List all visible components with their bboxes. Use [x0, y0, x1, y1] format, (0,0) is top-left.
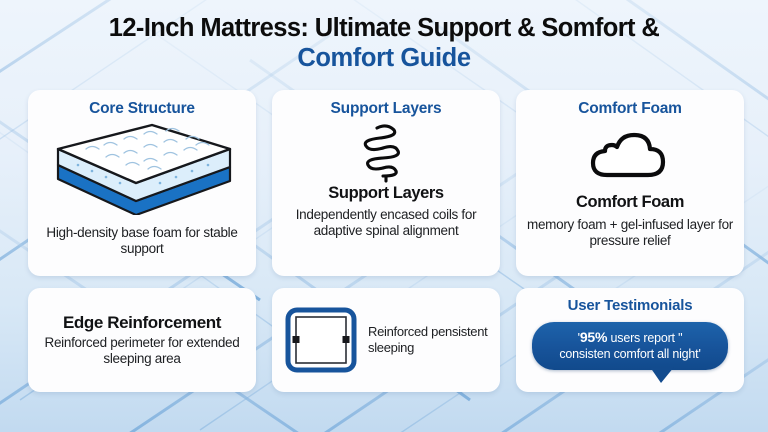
mattress-icon	[44, 123, 240, 215]
card-comfort-foam[interactable]: Comfort Foam Comfort Foam memory foam + …	[516, 90, 744, 276]
card-support-layers-body: Independently encased coils for adaptive…	[282, 207, 490, 239]
card-edge-reinforcement-body: Reinforced perimeter for extended sleepi…	[38, 335, 246, 367]
card-comfort-foam-title: Comfort Foam	[578, 100, 682, 119]
quote-line-1-text: users report "	[607, 331, 682, 345]
card-user-testimonials-title: User Testimonials	[568, 297, 693, 315]
testimonial-quote-line-2: consisten comfort all night'	[542, 347, 718, 363]
speech-bubble-tail	[650, 367, 674, 383]
testimonial-quote-line-1: '95% users report "	[542, 329, 718, 347]
card-reinforced-perimeter[interactable]: Reinforced pensistent sleeping	[272, 288, 500, 392]
testimonial-speech-bubble: '95% users report " consisten comfort al…	[532, 322, 728, 370]
title-line-secondary: Comfort Guide	[0, 43, 768, 73]
card-comfort-foam-subtitle: Comfort Foam	[576, 193, 684, 212]
infographic-canvas: 12-Inch Mattress: Ultimate Support & Som…	[0, 0, 768, 432]
square-frame-icon	[284, 306, 358, 374]
card-comfort-foam-body: memory foam + gel-infused layer for pres…	[526, 217, 734, 249]
cloud-icon	[587, 129, 673, 181]
card-user-testimonials[interactable]: User Testimonials '95% users report " co…	[516, 288, 744, 392]
card-core-structure-title: Core Structure	[89, 100, 195, 119]
card-core-structure-body: High-density base foam for stable suppor…	[38, 225, 246, 257]
testimonial-percent: 95%	[580, 329, 607, 345]
card-support-layers[interactable]: Support Layers Support Layers Independen…	[272, 90, 500, 276]
card-support-layers-title: Support Layers	[331, 100, 442, 119]
card-reinforced-perimeter-body: Reinforced pensistent sleeping	[368, 324, 488, 357]
card-edge-reinforcement[interactable]: Edge Reinforcement Reinforced perimeter …	[28, 288, 256, 392]
card-support-layers-subtitle: Support Layers	[328, 184, 443, 203]
card-core-structure[interactable]: Core Structure	[28, 90, 256, 276]
card-edge-reinforcement-title: Edge Reinforcement	[63, 313, 221, 333]
card-grid: Core Structure	[28, 90, 740, 392]
page-title: 12-Inch Mattress: Ultimate Support & Som…	[0, 14, 768, 73]
coil-spring-icon	[362, 121, 410, 183]
title-line-primary: 12-Inch Mattress: Ultimate Support & Som…	[0, 14, 768, 43]
